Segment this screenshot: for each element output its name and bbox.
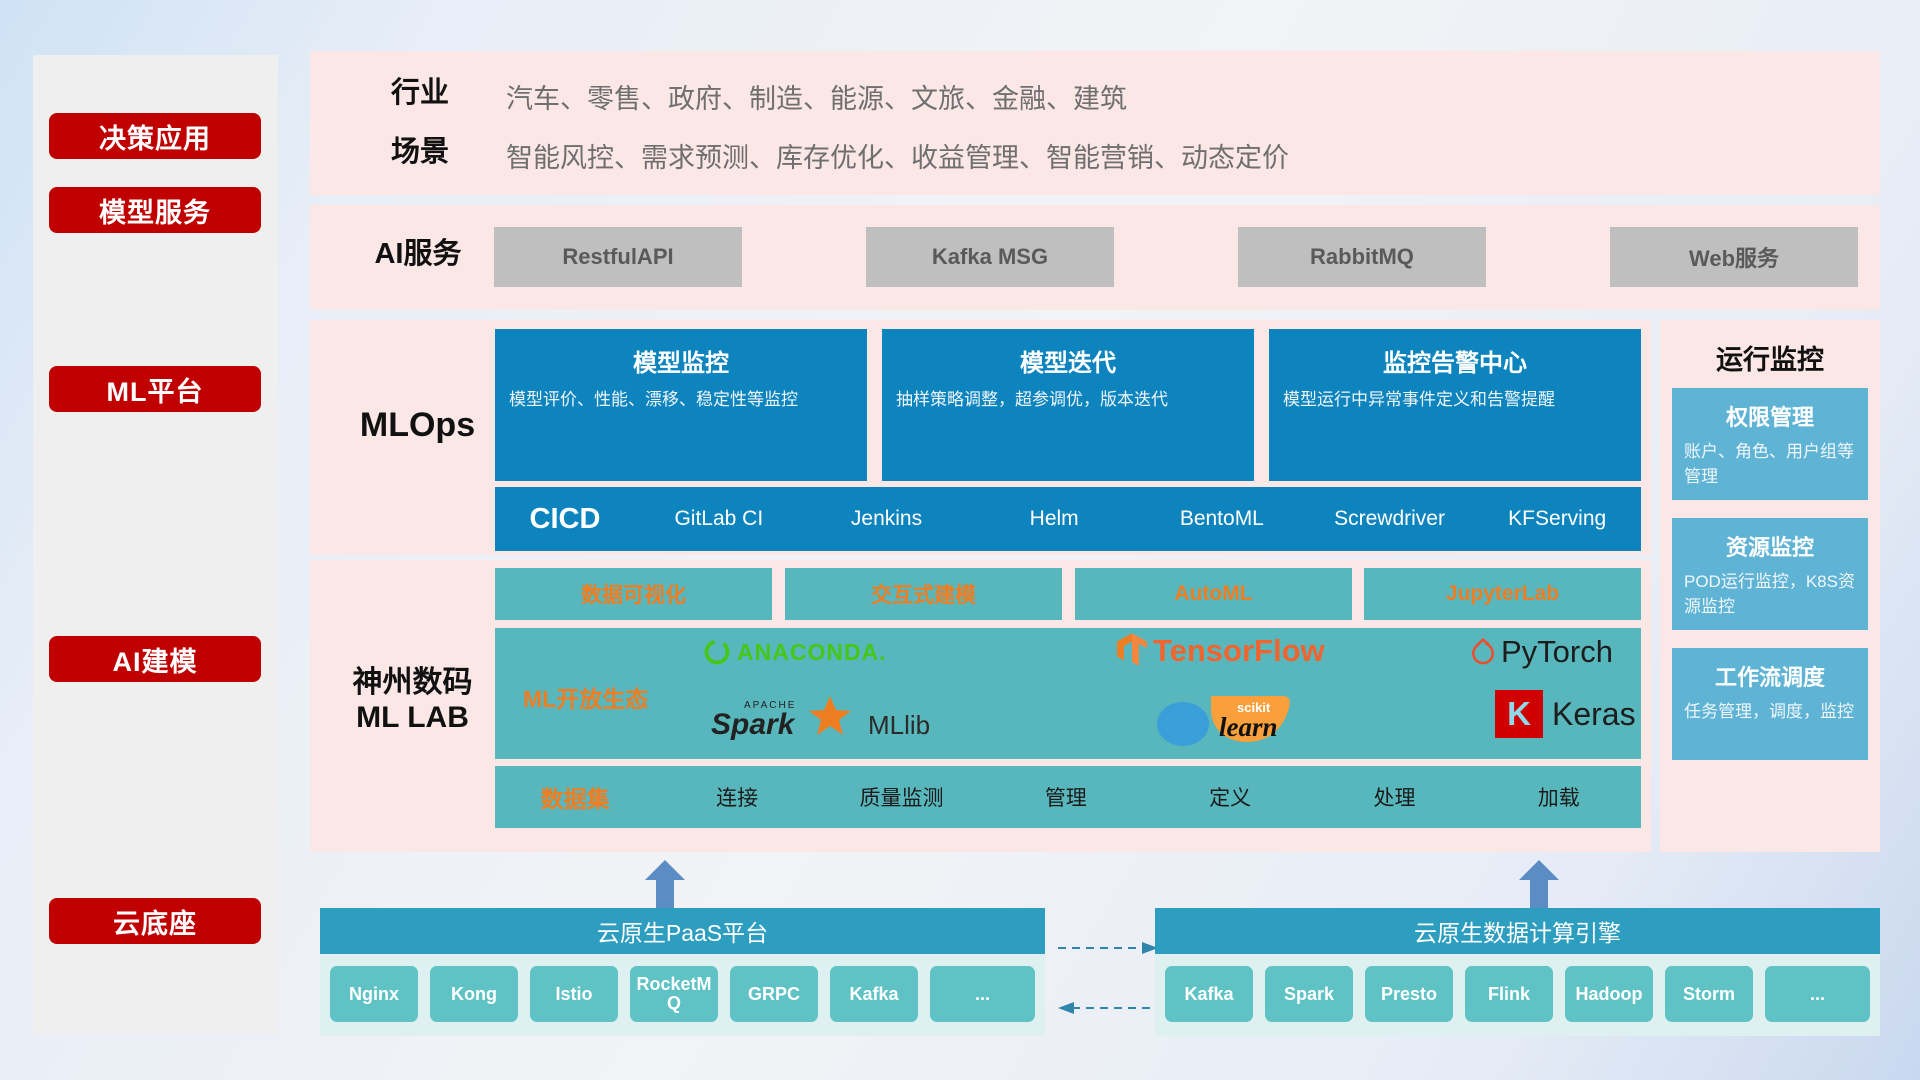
monitoring-card-desc: 任务管理，调度，监控 bbox=[1684, 700, 1856, 725]
scikit-learn-mark-icon: scikit learn bbox=[1155, 690, 1305, 750]
dataset-bar: 数据集 连接 质量监测 管理 定义 处理 加载 bbox=[495, 766, 1641, 828]
anaconda-logo: ANACONDA. bbox=[703, 638, 887, 666]
left-rail: 决策应用 模型服务 ML平台 AI建模 云底座 bbox=[33, 55, 278, 1035]
tensorflow-logo-text: TensorFlow bbox=[1153, 633, 1325, 669]
tile-automl[interactable]: AutoML bbox=[1075, 568, 1352, 620]
mllib-logo-text: MLlib bbox=[868, 710, 930, 741]
scikit-learn-logo: scikit learn bbox=[1155, 690, 1305, 750]
dataset-item-connect[interactable]: 连接 bbox=[655, 782, 819, 812]
paas-platform-group: 云原生PaaS平台 Nginx Kong Istio RocketMQ GRPC… bbox=[320, 908, 1045, 1036]
engine-chip-more[interactable]: ... bbox=[1765, 966, 1870, 1022]
industry-row-value: 汽车、零售、政府、制造、能源、文旅、金融、建筑 bbox=[506, 77, 1127, 116]
cicd-bar: CICD GitLab CI Jenkins Helm BentoML Scre… bbox=[495, 487, 1641, 551]
cicd-item-screwdriver[interactable]: Screwdriver bbox=[1306, 508, 1474, 530]
arrow-up-data-engine-icon bbox=[1517, 860, 1561, 908]
paas-chip-kafka[interactable]: Kafka bbox=[830, 966, 918, 1022]
ai-service-panel: AI服务 RestfulAPI Kafka MSG RabbitMQ Web服务 bbox=[310, 205, 1880, 310]
spark-mark-icon: Spark APACHE bbox=[710, 694, 860, 748]
paas-platform-header: 云原生PaaS平台 bbox=[320, 908, 1045, 954]
ml-ecosystem-box: ML开放生态 ANACONDA. TensorFlow bbox=[495, 628, 1641, 759]
rail-chip-ai-modeling[interactable]: AI建模 bbox=[49, 636, 261, 682]
dataset-head: 数据集 bbox=[495, 780, 655, 814]
decision-app-panel: 行业 汽车、零售、政府、制造、能源、文旅、金融、建筑 场景 智能风控、需求预测、… bbox=[310, 51, 1880, 195]
ml-lab-label-line1: 神州数码 bbox=[353, 666, 473, 699]
rail-chip-cloud-base[interactable]: 云底座 bbox=[49, 898, 261, 944]
monitoring-card-workflow[interactable]: 工作流调度 任务管理，调度，监控 bbox=[1672, 648, 1868, 760]
engine-chip-storm[interactable]: Storm bbox=[1665, 966, 1753, 1022]
spark-mllib-logo: Spark APACHE MLlib bbox=[710, 694, 930, 748]
cicd-item-bentoml[interactable]: BentoML bbox=[1138, 508, 1306, 530]
arrow-left-dashed-icon bbox=[1058, 1000, 1158, 1016]
tensorflow-mark-icon bbox=[1115, 632, 1149, 670]
paas-chip-kong[interactable]: Kong bbox=[430, 966, 518, 1022]
industry-row-label: 行业 bbox=[360, 76, 480, 110]
ai-modeling-panel: 神州数码 ML LAB 数据可视化 交互式建模 AutoML JupyterLa… bbox=[310, 560, 1651, 852]
engine-chip-kafka[interactable]: Kafka bbox=[1165, 966, 1253, 1022]
paas-chip-more[interactable]: ... bbox=[930, 966, 1035, 1022]
paas-chip-nginx[interactable]: Nginx bbox=[330, 966, 418, 1022]
monitoring-title: 运行监控 bbox=[1660, 338, 1880, 377]
svg-text:Spark: Spark bbox=[711, 708, 796, 741]
monitoring-panel: 运行监控 权限管理 账户、角色、用户组等管理 资源监控 POD运行监控，K8S资… bbox=[1660, 320, 1880, 852]
paas-chip-grpc[interactable]: GRPC bbox=[730, 966, 818, 1022]
ml-ecosystem-label: ML开放生态 bbox=[523, 680, 648, 714]
architecture-diagram: 决策应用 模型服务 ML平台 AI建模 云底座 行业 汽车、零售、政府、制造、能… bbox=[0, 0, 1920, 1080]
mlops-card-desc: 模型评价、性能、漂移、稳定性等监控 bbox=[509, 388, 853, 413]
pytorch-logo-text: PyTorch bbox=[1501, 634, 1613, 670]
svg-text:learn: learn bbox=[1219, 712, 1278, 742]
scenario-row-label: 场景 bbox=[360, 135, 480, 169]
ai-service-item-kafka-msg[interactable]: Kafka MSG bbox=[866, 227, 1114, 287]
monitoring-card-title: 权限管理 bbox=[1684, 400, 1856, 432]
pytorch-logo: PyTorch bbox=[1470, 634, 1613, 670]
tile-data-visualization[interactable]: 数据可视化 bbox=[495, 568, 772, 620]
data-engine-group: 云原生数据计算引擎 Kafka Spark Presto Flink Hadoo… bbox=[1155, 908, 1880, 1036]
ai-service-item-web-service[interactable]: Web服务 bbox=[1610, 227, 1858, 287]
mlops-card-title: 监控告警中心 bbox=[1283, 343, 1627, 378]
arrow-up-paas-icon bbox=[643, 860, 687, 908]
dataset-item-define[interactable]: 定义 bbox=[1148, 782, 1312, 812]
ml-lab-label: 神州数码 ML LAB bbox=[320, 665, 505, 736]
engine-chip-flink[interactable]: Flink bbox=[1465, 966, 1553, 1022]
mlops-card-title: 模型迭代 bbox=[896, 343, 1240, 378]
engine-chip-presto[interactable]: Presto bbox=[1365, 966, 1453, 1022]
mlops-card-model-monitoring[interactable]: 模型监控 模型评价、性能、漂移、稳定性等监控 bbox=[495, 329, 867, 481]
ai-service-item-rabbitmq[interactable]: RabbitMQ bbox=[1238, 227, 1486, 287]
data-engine-header: 云原生数据计算引擎 bbox=[1155, 908, 1880, 954]
mlops-card-desc: 模型运行中异常事件定义和告警提醒 bbox=[1283, 388, 1627, 413]
dataset-item-manage[interactable]: 管理 bbox=[984, 782, 1148, 812]
dataset-item-load[interactable]: 加载 bbox=[1477, 782, 1641, 812]
mlops-card-model-iteration[interactable]: 模型迭代 抽样策略调整，超参调优，版本迭代 bbox=[882, 329, 1254, 481]
anaconda-logo-text: ANACONDA. bbox=[737, 639, 887, 666]
keras-mark-letter: K bbox=[1507, 695, 1531, 733]
mlops-panel: MLOps 模型监控 模型评价、性能、漂移、稳定性等监控 模型迭代 抽样策略调整… bbox=[310, 320, 1651, 555]
scenario-row-value: 智能风控、需求预测、库存优化、收益管理、智能营销、动态定价 bbox=[506, 136, 1289, 175]
tensorflow-logo: TensorFlow bbox=[1115, 632, 1325, 670]
paas-chip-rocketmq[interactable]: RocketMQ bbox=[630, 966, 718, 1022]
ml-lab-label-line2: ML LAB bbox=[356, 701, 469, 734]
engine-chip-spark[interactable]: Spark bbox=[1265, 966, 1353, 1022]
ai-service-label: AI服务 bbox=[343, 237, 493, 271]
keras-logo-text: Keras bbox=[1552, 696, 1636, 733]
tile-jupyterlab[interactable]: JupyterLab bbox=[1364, 568, 1641, 620]
tile-interactive-modeling[interactable]: 交互式建模 bbox=[785, 568, 1062, 620]
monitoring-card-title: 资源监控 bbox=[1684, 530, 1856, 562]
cicd-title: CICD bbox=[495, 503, 635, 536]
cicd-item-gitlab-ci[interactable]: GitLab CI bbox=[635, 508, 803, 530]
ai-service-item-restfulapi[interactable]: RestfulAPI bbox=[494, 227, 742, 287]
monitoring-card-title: 工作流调度 bbox=[1684, 660, 1856, 692]
rail-chip-decision-app[interactable]: 决策应用 bbox=[49, 113, 261, 159]
mlops-label: MLOps bbox=[330, 405, 505, 445]
dataset-item-quality[interactable]: 质量监测 bbox=[819, 782, 983, 812]
monitoring-card-desc: 账户、角色、用户组等管理 bbox=[1684, 440, 1856, 489]
keras-mark-icon: K bbox=[1495, 690, 1543, 738]
cicd-item-helm[interactable]: Helm bbox=[970, 508, 1138, 530]
monitoring-card-resource[interactable]: 资源监控 POD运行监控，K8S资源监控 bbox=[1672, 518, 1868, 630]
paas-chip-istio[interactable]: Istio bbox=[530, 966, 618, 1022]
rail-chip-ml-platform[interactable]: ML平台 bbox=[49, 366, 261, 412]
keras-logo: K Keras bbox=[1495, 690, 1636, 738]
monitoring-card-desc: POD运行监控，K8S资源监控 bbox=[1684, 570, 1856, 619]
mlops-card-desc: 抽样策略调整，超参调优，版本迭代 bbox=[896, 388, 1240, 413]
arrow-right-dashed-icon bbox=[1058, 940, 1158, 956]
mlops-card-alert-center[interactable]: 监控告警中心 模型运行中异常事件定义和告警提醒 bbox=[1269, 329, 1641, 481]
cicd-item-jenkins[interactable]: Jenkins bbox=[803, 508, 971, 530]
cicd-item-kfserving[interactable]: KFServing bbox=[1473, 508, 1641, 530]
pytorch-mark-icon bbox=[1470, 637, 1496, 667]
anaconda-mark-icon bbox=[703, 638, 731, 666]
engine-chip-hadoop[interactable]: Hadoop bbox=[1565, 966, 1653, 1022]
rail-chip-model-service[interactable]: 模型服务 bbox=[49, 187, 261, 233]
svg-text:APACHE: APACHE bbox=[744, 700, 796, 711]
monitoring-card-permission[interactable]: 权限管理 账户、角色、用户组等管理 bbox=[1672, 388, 1868, 500]
dataset-item-process[interactable]: 处理 bbox=[1312, 782, 1476, 812]
mlops-card-title: 模型监控 bbox=[509, 343, 853, 378]
